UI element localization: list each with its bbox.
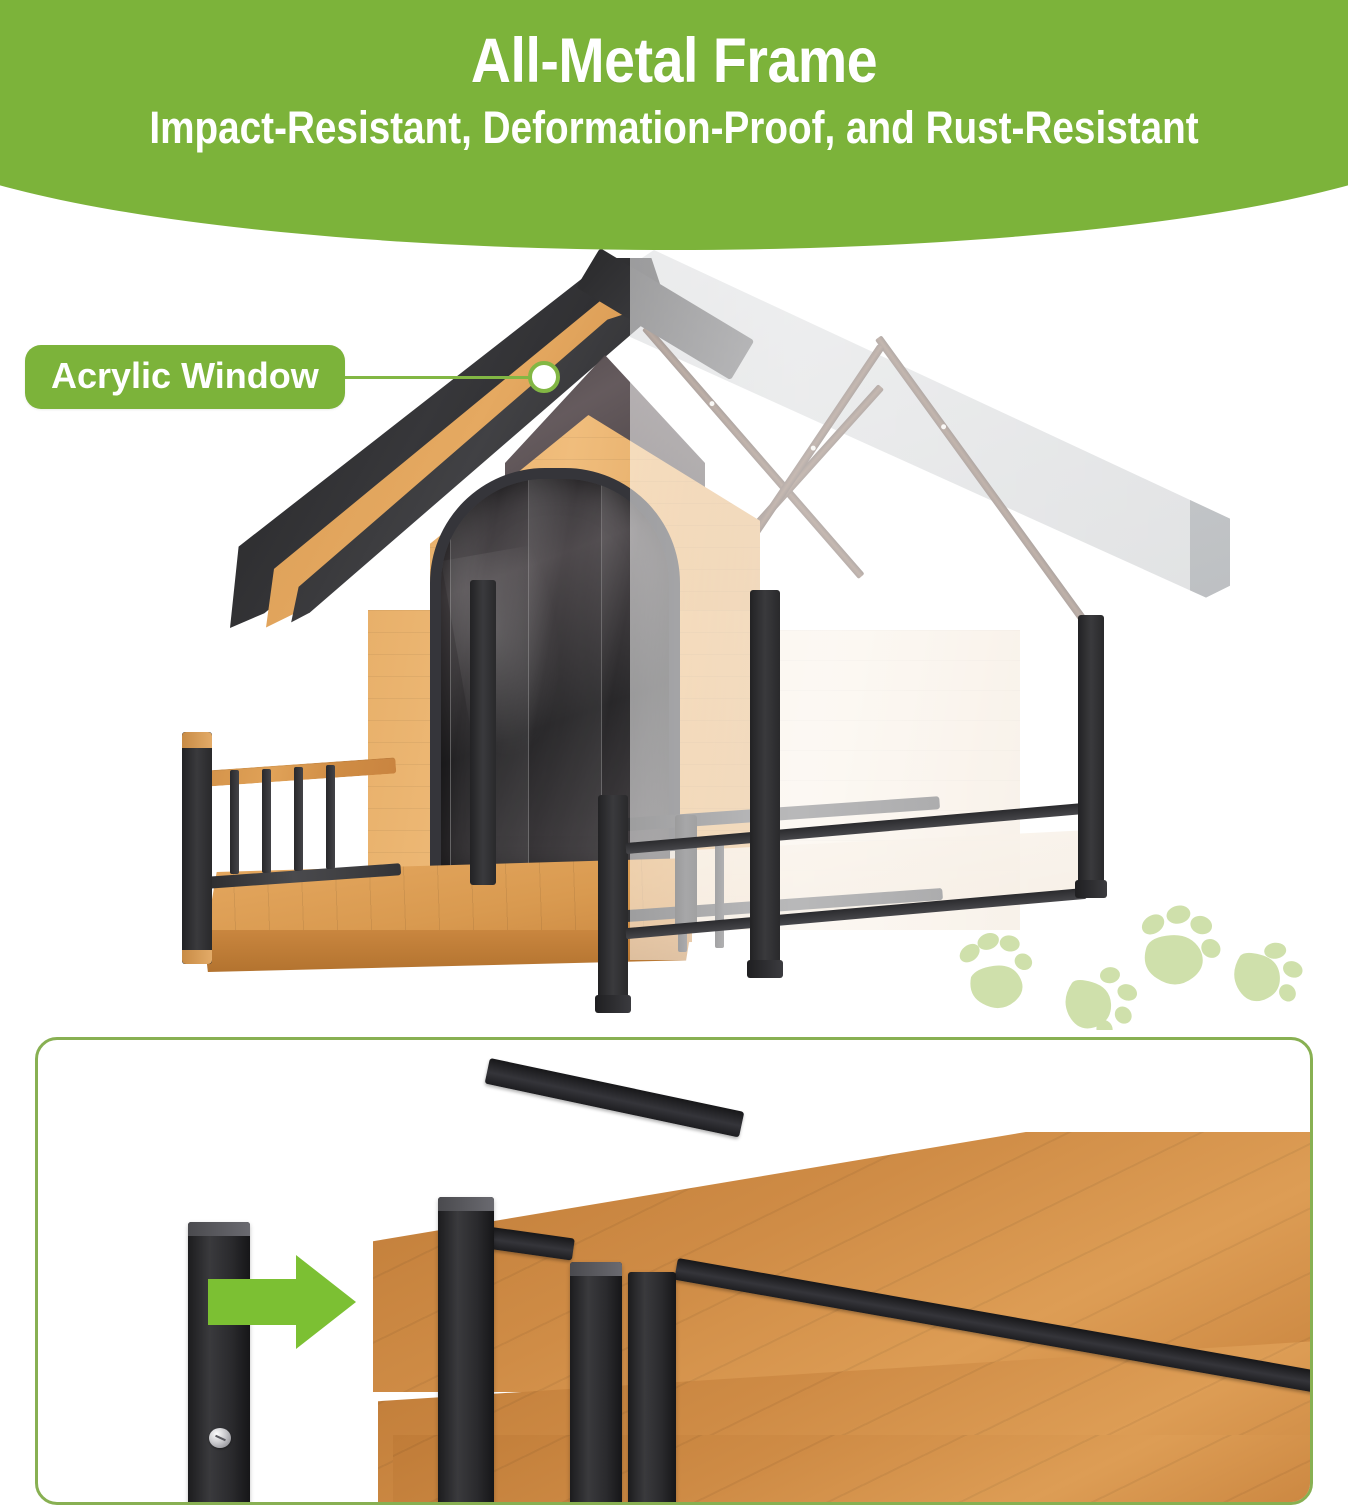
callout-leader-line	[345, 376, 530, 379]
wood-wall-base	[393, 1435, 1313, 1505]
post-cap-wood-top	[182, 732, 212, 748]
corner-post-far-right	[1078, 615, 1104, 890]
callout-target-dot	[528, 361, 560, 393]
post-cap-wood-bottom	[182, 950, 212, 964]
paw-icon-3	[1137, 905, 1227, 987]
corner-post-front-left	[182, 732, 212, 964]
callout-acrylic-window[interactable]: Acrylic Window	[25, 345, 560, 409]
post-top-face	[188, 1222, 250, 1236]
page-subtitle: Impact-Resistant, Deformation-Proof, and…	[94, 105, 1253, 150]
post-foot-cap-3	[1075, 880, 1107, 898]
post-foot-cap-2	[747, 960, 783, 978]
installed-metal-post	[438, 1197, 494, 1505]
post-foot-cap	[595, 995, 631, 1013]
corner-post-front-right	[598, 795, 628, 1005]
green-right-arrow	[208, 1247, 358, 1357]
baluster-l4	[326, 765, 335, 869]
post-screw-icon	[209, 1428, 231, 1448]
paw-print-group	[945, 905, 1335, 1030]
header-banner: All-Metal Frame Impact-Resistant, Deform…	[0, 0, 1348, 260]
paw-icon-4	[1231, 935, 1308, 1007]
corner-post-left-of-wall	[570, 1262, 622, 1505]
callout-label: Acrylic Window	[25, 345, 345, 409]
installed-post-top-face	[438, 1197, 494, 1211]
baluster-l1	[230, 770, 239, 874]
arrow-icon	[208, 1247, 358, 1357]
metal-edge-bar-top	[485, 1058, 745, 1137]
corner-post-back-right	[750, 590, 780, 970]
corner-post-top-face	[570, 1262, 622, 1276]
corner-post-right-of-wall	[628, 1272, 676, 1505]
baluster-l3	[294, 767, 303, 871]
corner-post-mid	[470, 580, 496, 885]
paw-prints-svg	[945, 905, 1335, 1030]
baluster-r2	[715, 838, 724, 948]
paw-icon-2	[1060, 958, 1144, 1030]
page-title: All-Metal Frame	[81, 30, 1267, 93]
header-text-group: All-Metal Frame Impact-Resistant, Deform…	[0, 0, 1348, 150]
baluster-l2	[262, 769, 271, 873]
corner-post-step	[675, 815, 697, 930]
paw-icon-1	[954, 925, 1042, 1013]
